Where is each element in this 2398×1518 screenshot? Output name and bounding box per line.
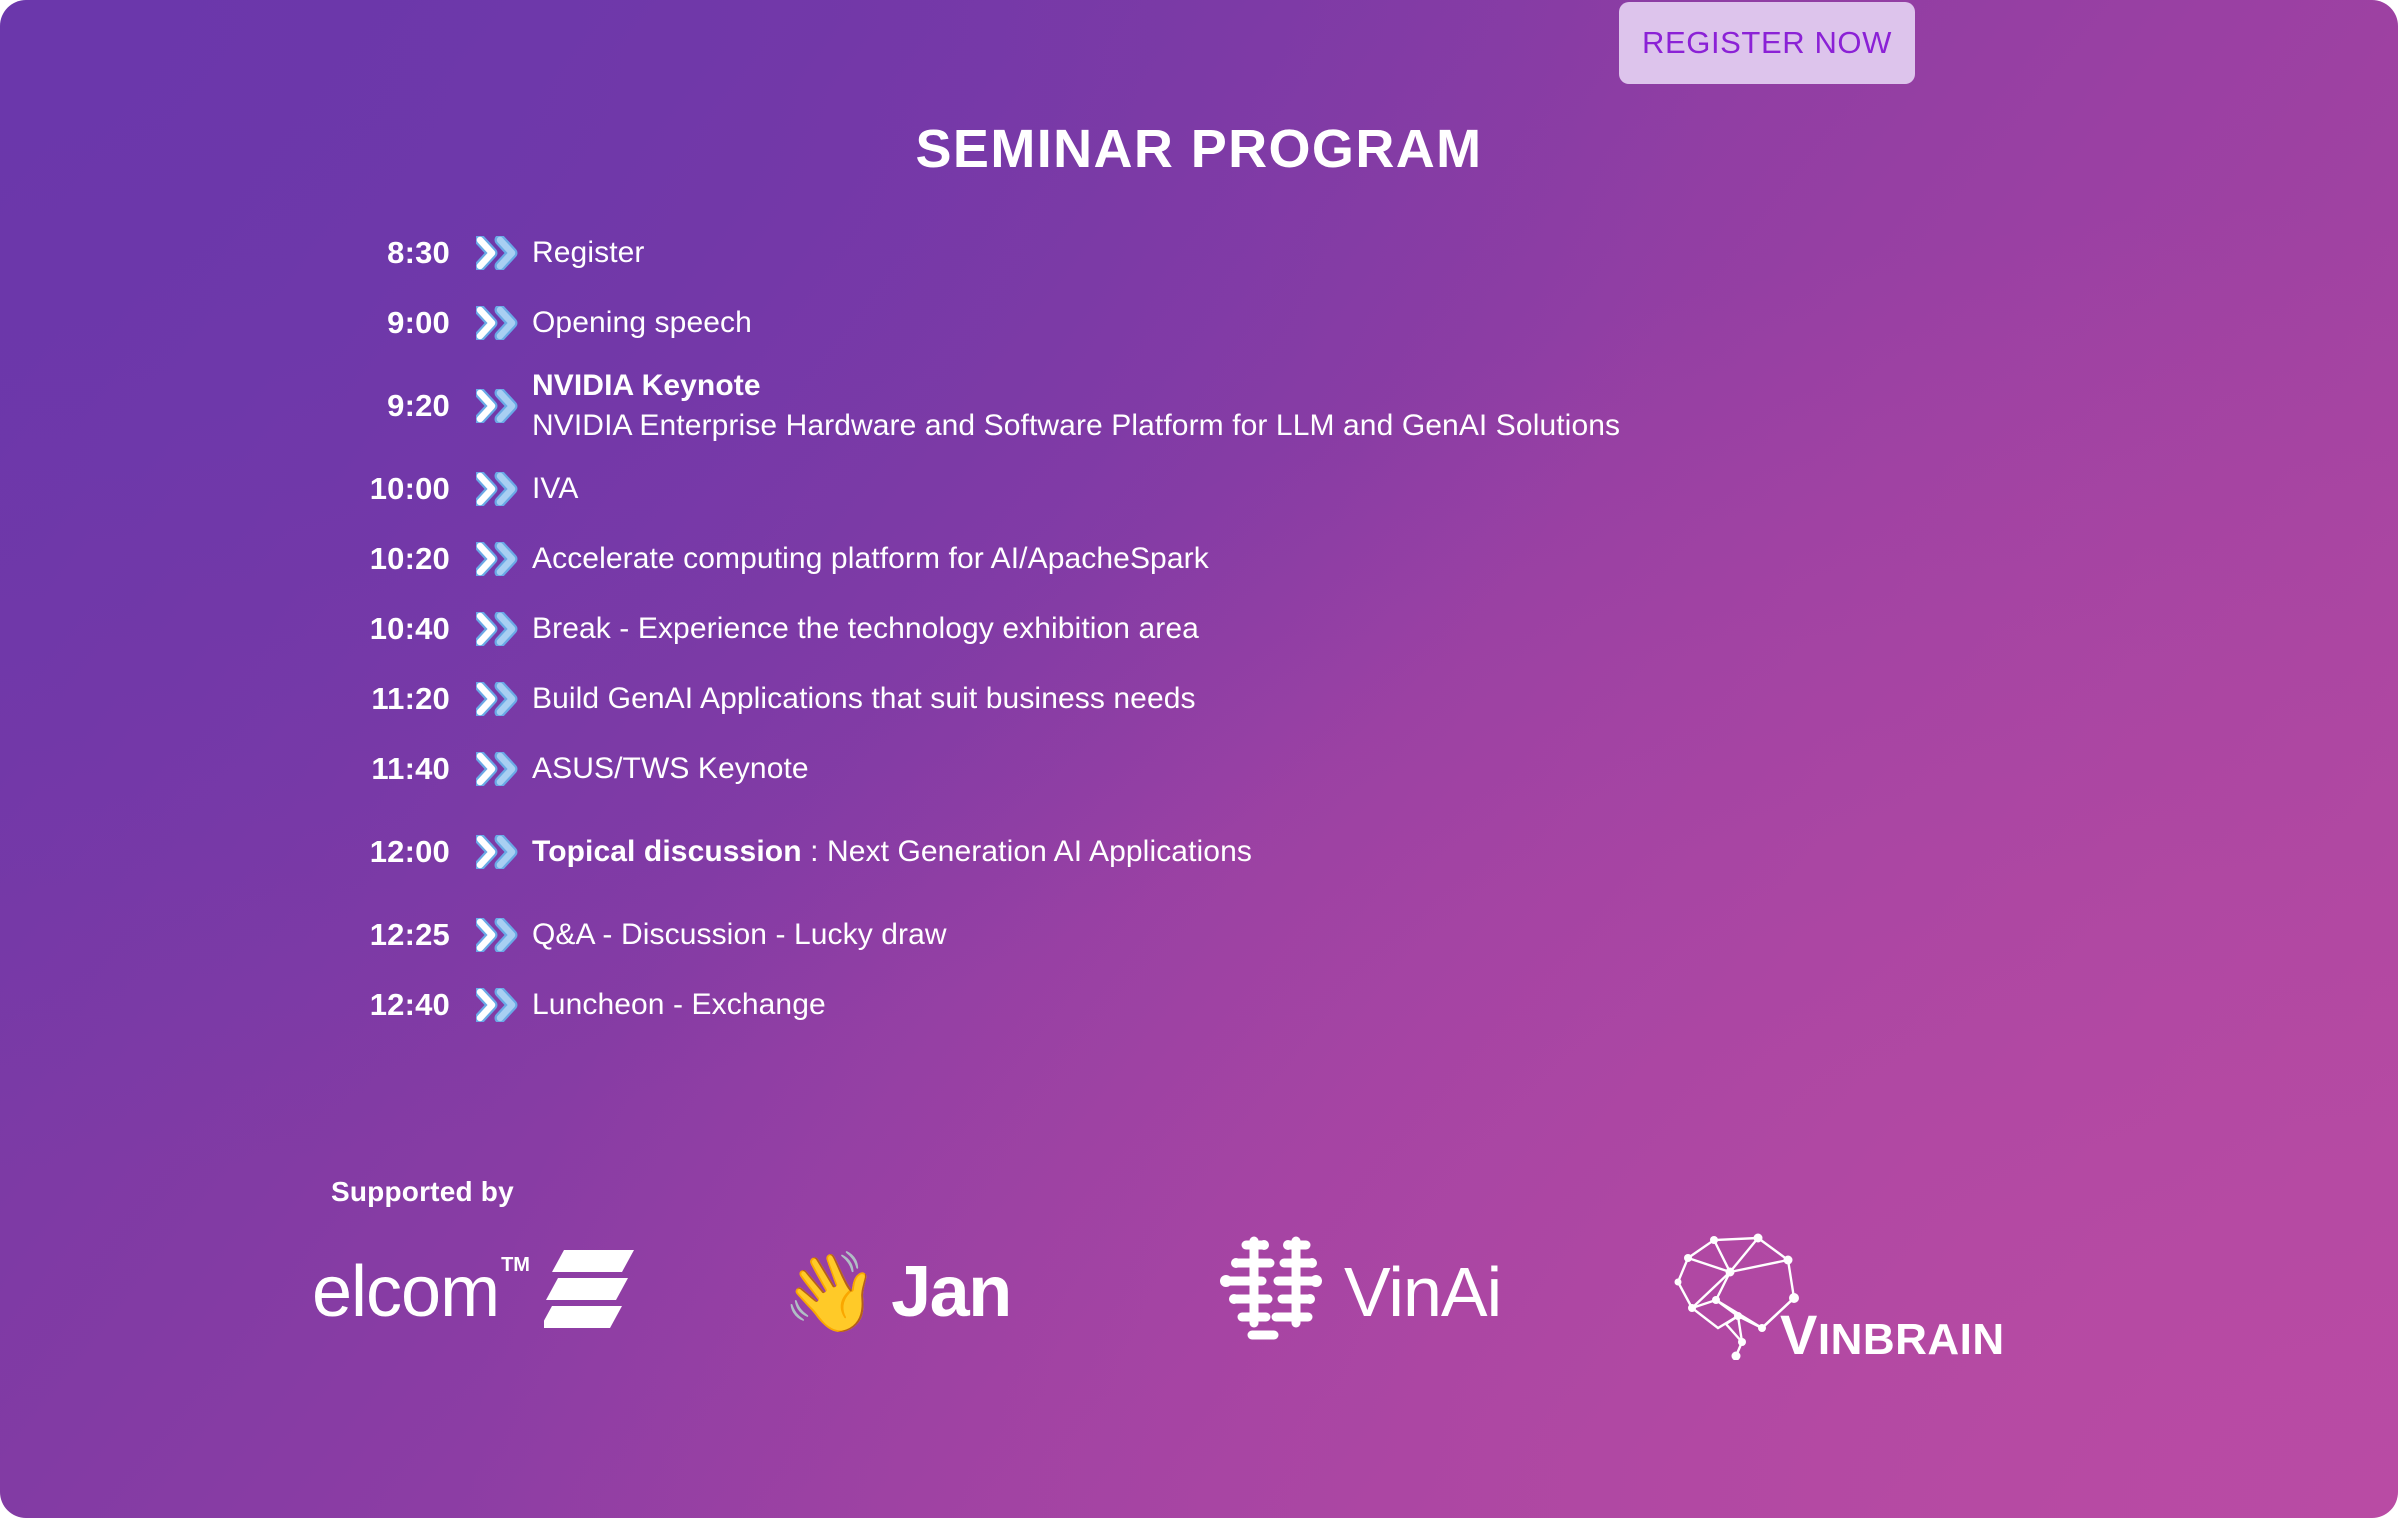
schedule-row: 11:40ASUS/TWS Keynote bbox=[330, 734, 2230, 804]
double-chevron-right-icon bbox=[450, 236, 532, 270]
schedule-row-title: Topical discussion bbox=[532, 835, 802, 868]
elcom-wordmark: elcom bbox=[312, 1256, 499, 1328]
double-chevron-right-icon bbox=[450, 988, 532, 1022]
schedule-row: 10:00IVA bbox=[330, 454, 2230, 524]
vinbrain-wordmark: VINBRAIN bbox=[1780, 1307, 2005, 1363]
double-chevron-right-icon bbox=[450, 612, 532, 646]
schedule-row-subtitle: NVIDIA Enterprise Hardware and Software … bbox=[532, 406, 1620, 446]
schedule-row: 10:40Break - Experience the technology e… bbox=[330, 594, 2230, 664]
schedule-row-time: 9:00 bbox=[330, 305, 450, 341]
page-title: SEMINAR PROGRAM bbox=[0, 118, 2398, 180]
schedule-row-text: : Next Generation AI Applications bbox=[802, 835, 1252, 868]
schedule-row-time: 12:00 bbox=[330, 834, 450, 870]
double-chevron-right-icon bbox=[450, 306, 532, 340]
double-chevron-right-icon bbox=[450, 472, 532, 506]
supported-by-label: Supported by bbox=[331, 1176, 514, 1208]
vinbrain-wordmark-rest: INBRAIN bbox=[1818, 1315, 2005, 1364]
trademark-icon: TM bbox=[501, 1254, 530, 1277]
sponsor-logo-vinbrain: VINBRAIN bbox=[1652, 1227, 2122, 1357]
schedule-row-time: 9:20 bbox=[330, 388, 450, 424]
schedule-row-description: Luncheon - Exchange bbox=[532, 985, 826, 1025]
double-chevron-right-icon bbox=[450, 752, 532, 786]
schedule-row-time: 11:20 bbox=[330, 681, 450, 717]
schedule-row-description: Opening speech bbox=[532, 303, 752, 343]
schedule-row-description: Break - Experience the technology exhibi… bbox=[532, 609, 1199, 649]
schedule-row: 9:00Opening speech bbox=[330, 288, 2230, 358]
schedule-row-description: Register bbox=[532, 233, 645, 273]
double-chevron-right-icon bbox=[450, 835, 532, 869]
schedule-row-description: Topical discussion : Next Generation AI … bbox=[532, 832, 1252, 872]
sponsor-logo-vinai: VinAi bbox=[1212, 1227, 1652, 1357]
schedule-row-title: NVIDIA Keynote bbox=[532, 369, 761, 402]
schedule-row-time: 10:00 bbox=[330, 471, 450, 507]
sponsor-logo-jan: 👋 Jan bbox=[782, 1227, 1212, 1357]
schedule-row-time: 12:25 bbox=[330, 917, 450, 953]
schedule-row-time: 11:40 bbox=[330, 751, 450, 787]
schedule-row-description: NVIDIA KeynoteNVIDIA Enterprise Hardware… bbox=[532, 366, 1620, 445]
waving-hand-icon: 👋 bbox=[782, 1253, 879, 1331]
vinai-wordmark: VinAi bbox=[1344, 1257, 1501, 1327]
schedule-row-time: 12:40 bbox=[330, 987, 450, 1023]
sponsor-logo-elcom: elcom TM bbox=[312, 1227, 782, 1357]
schedule-row: 11:20Build GenAI Applications that suit … bbox=[330, 664, 2230, 734]
schedule-row-time: 10:20 bbox=[330, 541, 450, 577]
vinai-circuit-mark-icon bbox=[1212, 1231, 1332, 1354]
sponsor-logos: elcom TM 👋 Jan bbox=[312, 1222, 2142, 1362]
schedule-row-description: ASUS/TWS Keynote bbox=[532, 749, 809, 789]
schedule-row-description: IVA bbox=[532, 469, 578, 509]
double-chevron-right-icon bbox=[450, 542, 532, 576]
schedule-row-description: Accelerate computing platform for AI/Apa… bbox=[532, 539, 1209, 579]
schedule-row: 12:40Luncheon - Exchange bbox=[330, 970, 2230, 1040]
schedule-row-time: 10:40 bbox=[330, 611, 450, 647]
seminar-program-slide: REGISTER NOW SEMINAR PROGRAM 8:30Registe… bbox=[0, 0, 2398, 1518]
double-chevron-right-icon bbox=[450, 918, 532, 952]
elcom-e-mark-icon bbox=[544, 1248, 636, 1337]
schedule-row: 12:25Q&A - Discussion - Lucky draw bbox=[330, 900, 2230, 970]
schedule-row: 12:00Topical discussion : Next Generatio… bbox=[330, 804, 2230, 900]
register-now-button[interactable]: REGISTER NOW bbox=[1619, 2, 1915, 84]
schedule-row-description: Q&A - Discussion - Lucky draw bbox=[532, 915, 947, 955]
schedule-row: 9:20NVIDIA KeynoteNVIDIA Enterprise Hard… bbox=[330, 358, 2230, 454]
double-chevron-right-icon bbox=[450, 682, 532, 716]
schedule-row: 10:20Accelerate computing platform for A… bbox=[330, 524, 2230, 594]
double-chevron-right-icon bbox=[450, 389, 532, 423]
schedule-list: 8:30Register9:00Opening speech9:20NVIDIA… bbox=[330, 218, 2230, 1040]
jan-wordmark: Jan bbox=[891, 1256, 1011, 1328]
vinbrain-wordmark-cap: V bbox=[1780, 1303, 1818, 1366]
schedule-row-description: Build GenAI Applications that suit busin… bbox=[532, 679, 1196, 719]
schedule-row-time: 8:30 bbox=[330, 235, 450, 271]
schedule-row: 8:30Register bbox=[330, 218, 2230, 288]
